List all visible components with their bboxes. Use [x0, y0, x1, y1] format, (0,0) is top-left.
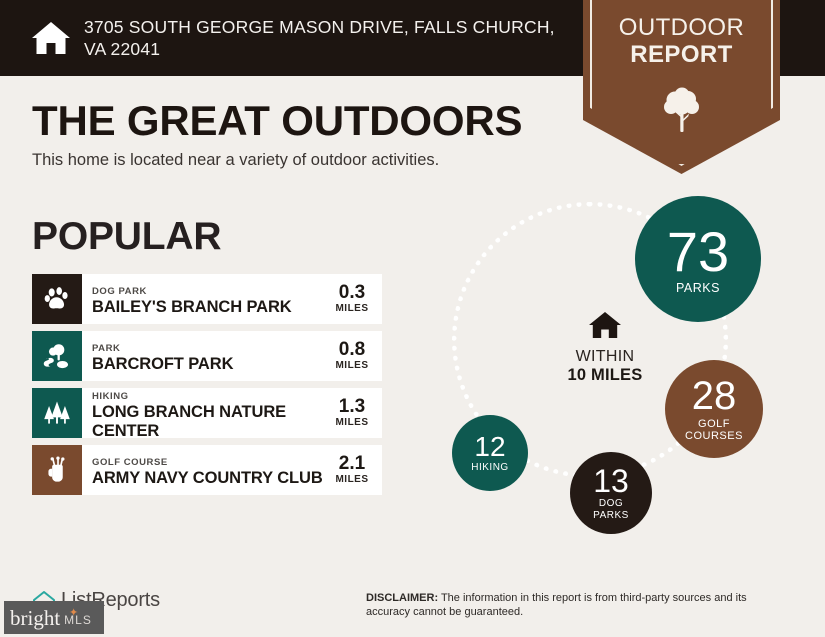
center-label-line-2: 10 MILES — [540, 366, 670, 385]
list-item[interactable]: DOG PARK BAILEY'S BRANCH PARK 0.3 MILES — [32, 274, 382, 324]
disclaimer-label: DISCLAIMER: — [366, 592, 438, 604]
bubble-hiking[interactable]: 12 HIKING — [452, 415, 528, 491]
badge-line-1: OUTDOOR — [619, 14, 744, 41]
popular-poi-list: DOG PARK BAILEY'S BRANCH PARK 0.3 MILES — [32, 274, 382, 496]
list-item-distance: 0.3 MILES — [328, 274, 382, 324]
bubble-value: 12 — [474, 433, 505, 461]
paw-print-icon — [32, 274, 82, 324]
list-item-text: HIKING LONG BRANCH NATURE CENTER — [82, 388, 328, 438]
tree-path-icon — [32, 331, 82, 381]
list-item[interactable]: HIKING LONG BRANCH NATURE CENTER 1.3 MIL… — [32, 388, 382, 438]
golf-bag-icon — [32, 445, 82, 495]
list-item-distance: 0.8 MILES — [328, 331, 382, 381]
outdoor-report-badge: OUTDOOR REPORT — [583, 0, 780, 174]
distance-value: 2.1 — [339, 454, 365, 474]
bubble-label-line-1: DOG — [599, 498, 623, 510]
tree-icon — [662, 86, 702, 134]
distance-value: 1.3 — [339, 397, 365, 417]
home-icon — [588, 310, 622, 340]
center-label-line-1: WITHIN — [540, 348, 670, 366]
list-item-category: GOLF COURSE — [92, 457, 324, 469]
distance-unit: MILES — [335, 474, 368, 486]
list-item[interactable]: PARK BARCROFT PARK 0.8 MILES — [32, 331, 382, 381]
bubble-dog-parks[interactable]: 13 DOG PARKS — [570, 452, 652, 534]
brightmls-wordmark: bright — [10, 607, 60, 629]
list-item-category: PARK — [92, 343, 324, 355]
badge-line-2: REPORT — [583, 41, 780, 68]
disclaimer: DISCLAIMER: The information in this repo… — [366, 592, 791, 619]
badge-text: OUTDOOR REPORT — [583, 14, 780, 68]
page-subtitle: This home is located near a variety of o… — [32, 151, 439, 170]
bubble-value: 73 — [667, 224, 729, 280]
distance-unit: MILES — [335, 303, 368, 315]
page-title: THE GREAT OUTDOORS — [32, 97, 522, 145]
list-item-category: HIKING — [92, 391, 324, 403]
list-item-name: BAILEY'S BRANCH PARK — [92, 298, 324, 317]
list-item-category: DOG PARK — [92, 286, 324, 298]
list-item-name: BARCROFT PARK — [92, 355, 324, 374]
bubble-golf-courses[interactable]: 28 GOLF COURSES — [665, 360, 763, 458]
bubble-label-line-2: PARKS — [593, 510, 629, 522]
distance-unit: MILES — [335, 417, 368, 429]
list-item[interactable]: GOLF COURSE ARMY NAVY COUNTRY CLUB 2.1 M… — [32, 445, 382, 495]
list-item-name: ARMY NAVY COUNTRY CLUB — [92, 469, 324, 488]
list-item-name: LONG BRANCH NATURE CENTER — [92, 403, 324, 439]
bubble-label-line-1: GOLF — [698, 418, 730, 430]
pine-trees-icon — [32, 388, 82, 438]
outdoor-report-page: 3705 SOUTH GEORGE MASON DRIVE, FALLS CHU… — [0, 0, 825, 637]
chart-center-label: WITHIN 10 MILES — [540, 310, 670, 385]
bubble-value: 13 — [593, 465, 629, 497]
bubble-label-line-2: COURSES — [685, 430, 743, 442]
brightmls-logo[interactable]: bright ✦ MLS — [4, 601, 104, 634]
bubble-label: HIKING — [471, 462, 508, 474]
bubble-value: 28 — [692, 376, 737, 416]
list-item-distance: 1.3 MILES — [328, 388, 382, 438]
home-icon — [30, 17, 72, 59]
property-address: 3705 SOUTH GEORGE MASON DRIVE, FALLS CHU… — [84, 16, 564, 60]
distance-unit: MILES — [335, 360, 368, 372]
bubble-label: PARKS — [676, 282, 720, 294]
bubble-chart: WITHIN 10 MILES 73 PARKS 28 GOLF COURSES… — [430, 180, 825, 550]
popular-section-title: POPULAR — [32, 215, 221, 259]
bubble-parks[interactable]: 73 PARKS — [635, 196, 761, 322]
list-item-text: DOG PARK BAILEY'S BRANCH PARK — [82, 274, 328, 324]
list-item-text: PARK BARCROFT PARK — [82, 331, 328, 381]
distance-value: 0.3 — [339, 283, 365, 303]
list-item-text: GOLF COURSE ARMY NAVY COUNTRY CLUB — [82, 445, 328, 495]
distance-value: 0.8 — [339, 340, 365, 360]
brightmls-star-icon: ✦ — [69, 606, 78, 619]
list-item-distance: 2.1 MILES — [328, 445, 382, 495]
